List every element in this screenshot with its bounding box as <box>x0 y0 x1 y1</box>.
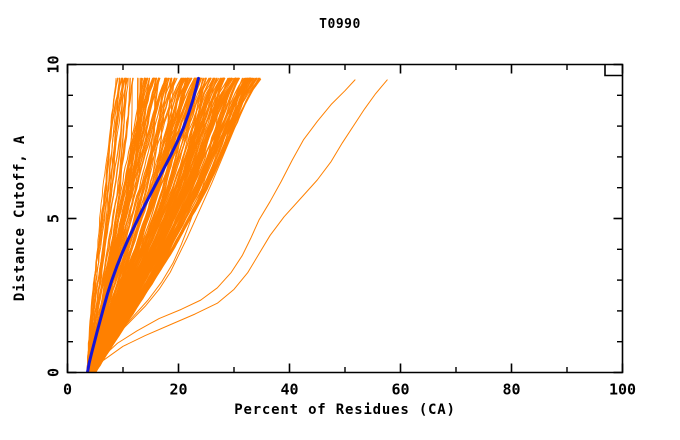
chart-canvas: T0990 Percent of Residues (CA) Distance … <box>0 0 680 440</box>
x-axis-title: Percent of Residues (CA) <box>234 402 456 418</box>
x-tick-label: 80 <box>502 381 520 399</box>
y-tick-label: 5 <box>45 214 63 223</box>
x-tick-label: 20 <box>169 381 187 399</box>
x-tick-label: 0 <box>63 381 72 399</box>
scientific-plot: T0990 Percent of Residues (CA) Distance … <box>0 0 680 440</box>
page-title: T0990 <box>319 17 361 32</box>
x-tick-label: 100 <box>609 381 636 399</box>
x-tick-label: 40 <box>280 381 298 399</box>
y-tick-label: 10 <box>45 55 63 73</box>
x-tick-label: 60 <box>391 381 409 399</box>
y-axis-title: Distance Cutoff, A <box>12 135 28 301</box>
y-tick-label: 0 <box>45 368 63 377</box>
